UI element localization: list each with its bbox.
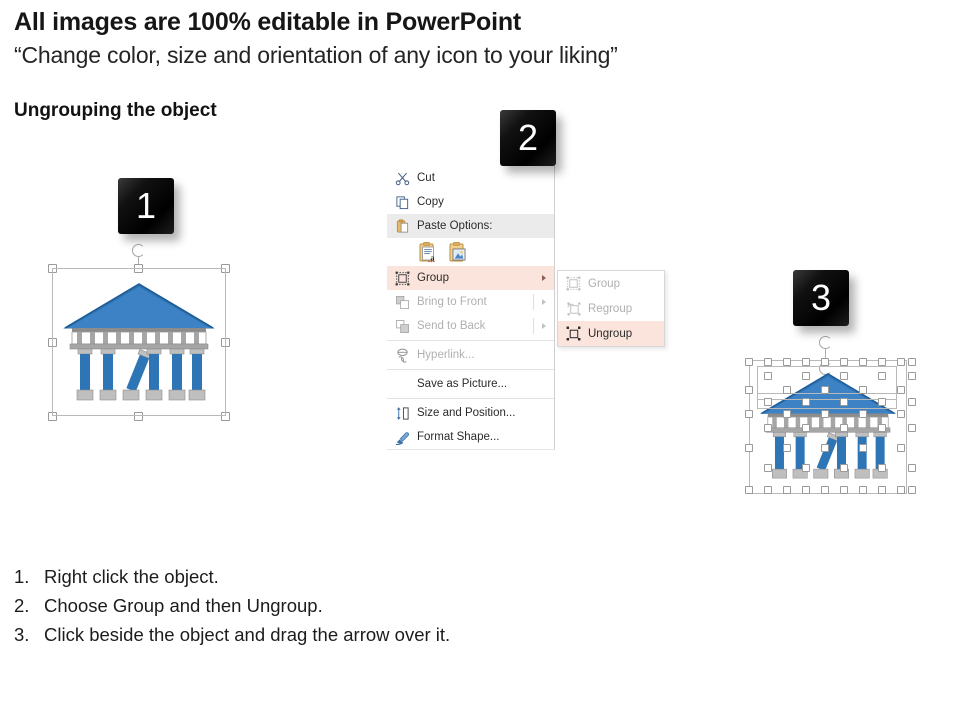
menu-label: Format Shape... [417,431,548,443]
ungroup-icon [564,325,582,343]
ungrouped-handle[interactable] [859,410,867,418]
ungrouped-handle[interactable] [821,410,829,418]
ungrouped-handle[interactable] [878,372,886,380]
list-number: 2. [14,591,44,620]
menu-item-group[interactable]: Group [387,266,554,290]
paste-keep-text-icon[interactable]: a [417,241,439,263]
menu-item-save-as-picture[interactable]: Save as Picture... [387,372,554,396]
menu-item-cut[interactable]: Cut [387,166,554,190]
ungrouped-handle[interactable] [745,444,753,452]
menu-item-size-and-position[interactable]: Size and Position... [387,401,554,425]
ungrouped-handle[interactable] [745,386,753,394]
ungrouped-handle[interactable] [802,358,810,366]
ungrouped-handle[interactable] [840,358,848,366]
ungrouped-handle[interactable] [802,486,810,494]
menu-item-bring-to-front[interactable]: Bring to Front [387,290,554,314]
ungrouped-handle[interactable] [878,398,886,406]
ungrouped-handle[interactable] [878,486,886,494]
menu-item-hyperlink[interactable]: Hyperlink... [387,343,554,367]
ungrouped-handle[interactable] [897,486,905,494]
ungrouped-handle[interactable] [802,398,810,406]
chevron-right-icon [542,275,546,281]
selection-frame-3-entablature[interactable] [757,393,897,409]
ungrouped-handle[interactable] [897,386,905,394]
menu-label: Send to Back [417,320,548,332]
group-icon [393,269,411,287]
scissors-icon [393,169,411,187]
ungrouped-handle[interactable] [878,464,886,472]
ungrouped-handle[interactable] [897,444,905,452]
ungrouped-handle[interactable] [859,358,867,366]
menu-label: Cut [417,172,548,184]
submenu-item-ungroup[interactable]: Ungroup [558,321,664,346]
menu-label: Copy [417,196,548,208]
ungrouped-handle[interactable] [840,424,848,432]
menu-item-copy[interactable]: Copy [387,190,554,214]
menu-item-format-shape[interactable]: Format Shape... [387,425,554,449]
send-to-back-icon [393,317,411,335]
ungrouped-handle[interactable] [783,444,791,452]
group-icon [564,275,582,293]
menu-label: Save as Picture... [417,378,548,390]
ungrouped-handle[interactable] [908,358,916,366]
paste-options-strip[interactable]: a [387,238,554,266]
menu-label: Group [588,278,658,290]
chevron-right-icon [542,299,546,305]
ungrouped-handle[interactable] [783,486,791,494]
selection-frame-1[interactable] [52,268,226,416]
ungrouped-handle[interactable] [802,424,810,432]
list-item: 1. Right click the object. [14,562,714,591]
menu-separator [387,369,554,370]
menu-label: Group [417,272,548,284]
list-item: 3. Click beside the object and drag the … [14,620,714,649]
ungrouped-handle[interactable] [764,424,772,432]
ungrouped-handle[interactable] [908,424,916,432]
ungrouped-handle[interactable] [878,424,886,432]
ungrouped-handle[interactable] [764,464,772,472]
page-subtitle: “Change color, size and orientation of a… [14,42,944,70]
menu-label: Paste Options: [417,220,548,232]
context-menu[interactable]: Cut Copy Paste Options: [387,166,555,450]
ungrouped-handle[interactable] [859,444,867,452]
copy-icon [393,193,411,211]
menu-divider [533,318,534,334]
list-number: 3. [14,620,44,649]
list-text: Right click the object. [44,562,219,591]
ungrouped-handle[interactable] [897,410,905,418]
menu-item-paste-options[interactable]: Paste Options: [387,214,554,238]
hyperlink-icon [393,346,411,364]
chevron-right-icon [542,323,546,329]
ungrouped-handle[interactable] [764,486,772,494]
ungrouped-handle[interactable] [745,358,753,366]
ungrouped-handle[interactable] [821,444,829,452]
rotate-handle-1[interactable] [132,244,145,257]
ungrouped-handle[interactable] [783,386,791,394]
step-badge-2: 2 [500,110,556,166]
ungrouped-handle[interactable] [840,464,848,472]
step-badge-3: 3 [793,270,849,326]
bring-to-front-icon [393,293,411,311]
ungrouped-handle[interactable] [908,464,916,472]
ungrouped-handle[interactable] [897,358,905,366]
ungrouped-handle[interactable] [821,486,829,494]
format-shape-icon [393,428,411,446]
regroup-icon [564,300,582,318]
step-badge-1: 1 [118,178,174,234]
list-item: 2. Choose Group and then Ungroup. [14,591,714,620]
ungrouped-handle[interactable] [745,486,753,494]
ungrouped-handle[interactable] [802,464,810,472]
instruction-list: 1. Right click the object. 2. Choose Gro… [14,562,714,650]
size-position-icon [393,404,411,422]
ungrouped-handle[interactable] [783,410,791,418]
page-title: All images are 100% editable in PowerPoi… [14,8,944,38]
paste-picture-icon[interactable] [447,241,469,263]
menu-label: Size and Position... [417,407,548,419]
submenu-item-regroup[interactable]: Regroup [558,296,664,321]
rotate-handle-3[interactable] [819,336,832,349]
menu-label: Ungroup [588,328,658,340]
menu-label: Hyperlink... [417,349,548,361]
menu-label: Bring to Front [417,296,548,308]
menu-divider [533,294,534,310]
ungrouped-handle[interactable] [764,398,772,406]
ungrouped-handle[interactable] [840,372,848,380]
ungrouped-handle[interactable] [783,358,791,366]
list-text: Choose Group and then Ungroup. [44,591,323,620]
ungrouped-handle[interactable] [764,372,772,380]
menu-item-send-to-back[interactable]: Send to Back [387,314,554,338]
ungrouped-handle[interactable] [802,372,810,380]
ungrouped-handle[interactable] [908,486,916,494]
section-heading: Ungrouping the object [14,100,217,122]
ungrouped-handle[interactable] [764,358,772,366]
menu-label: Regroup [588,303,658,315]
slide-header: All images are 100% editable in PowerPoi… [14,8,944,69]
group-submenu[interactable]: Group Regroup Ungroup [557,270,665,347]
ungrouped-handle[interactable] [840,398,848,406]
ungrouped-handle[interactable] [821,386,829,394]
ungrouped-handle[interactable] [908,372,916,380]
ungrouped-handle[interactable] [859,386,867,394]
ungrouped-handle[interactable] [878,358,886,366]
submenu-item-group[interactable]: Group [558,271,664,296]
menu-separator [387,340,554,341]
ungrouped-handle[interactable] [840,486,848,494]
clipboard-icon [393,217,411,235]
ungrouped-handle[interactable] [745,410,753,418]
ungrouped-handle[interactable] [859,486,867,494]
menu-separator [387,398,554,399]
ungrouped-handle[interactable] [821,358,829,366]
ungrouped-handle[interactable] [908,398,916,406]
list-text: Click beside the object and drag the arr… [44,620,450,649]
list-number: 1. [14,562,44,591]
